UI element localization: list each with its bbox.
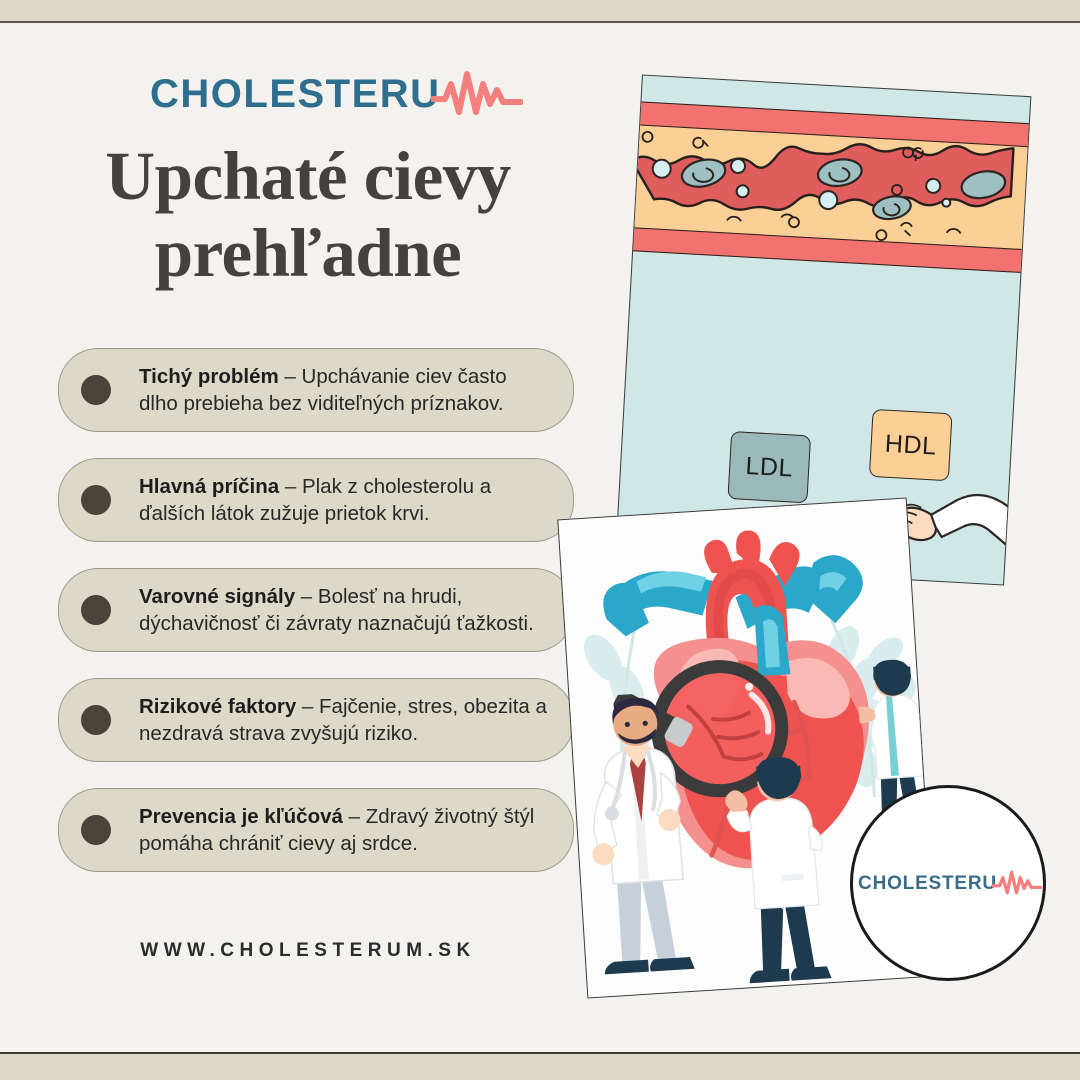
bullet-dot-icon [81, 375, 111, 405]
hdl-tile: HDL [869, 409, 953, 481]
website-url: WWW.CHOLESTERUM.SK [28, 940, 588, 962]
brand-logo: CHOLESTERU [150, 68, 523, 120]
bullet-dot-icon [81, 485, 111, 515]
brand-badge-wordmark: CHOLESTERU [858, 874, 997, 893]
list-item-text: Varovné signály – Bolesť na hrudi, dýcha… [139, 583, 547, 637]
list-item-dash: – [279, 365, 302, 388]
bottom-band [0, 1052, 1080, 1080]
brand-badge: CHOLESTERU [850, 785, 1046, 981]
illustration-cluster: LDL HDL [560, 40, 1080, 1040]
ldl-label: LDL [745, 451, 794, 483]
doctor-with-magnifier [572, 689, 741, 998]
list-item: Varovné signály – Bolesť na hrudi, dýcha… [58, 568, 574, 652]
bullet-dot-icon [81, 815, 111, 845]
hdl-label: HDL [884, 429, 937, 461]
list-item-lead: Tichý problém [139, 365, 279, 388]
list-item-dash: – [343, 805, 366, 828]
heartbeat-ecg-icon [431, 68, 523, 120]
list-item-lead: Prevencia je kľúčová [139, 805, 343, 828]
list-item-lead: Rizikové faktory [139, 695, 296, 718]
bullet-dot-icon [81, 595, 111, 625]
list-item: Prevencia je kľúčová – Zdravý životný št… [58, 788, 574, 872]
bullet-dot-icon [81, 705, 111, 735]
list-item-text: Prevencia je kľúčová – Zdravý životný št… [139, 803, 547, 857]
page-title: Upchaté cievy prehľadne [28, 138, 588, 293]
list-item-lead: Hlavná príčina [139, 475, 279, 498]
top-band [0, 0, 1080, 23]
list-item-lead: Varovné signály [139, 585, 295, 608]
poster-canvas: CHOLESTERU Upchaté cievy prehľadne Tichý… [0, 0, 1080, 1080]
list-item-text: Tichý problém – Upchávanie ciev často dl… [139, 363, 547, 417]
page-title-line-1: Upchaté cievy [28, 138, 588, 215]
list-item-dash: – [279, 475, 302, 498]
list-item: Rizikové faktory – Fajčenie, stres, obez… [58, 678, 574, 762]
doctor-back-view [722, 754, 846, 990]
list-item-dash: – [296, 695, 319, 718]
list-item: Tichý problém – Upchávanie ciev často dl… [58, 348, 574, 432]
list-item-text: Rizikové faktory – Fajčenie, stres, obez… [139, 693, 547, 747]
list-item: Hlavná príčina – Plak z cholesterolu a ď… [58, 458, 574, 542]
brand-badge-logo: CHOLESTERU [858, 868, 1042, 898]
ldl-tile: LDL [727, 431, 811, 503]
bullet-list: Tichý problém – Upchávanie ciev často dl… [58, 348, 578, 898]
heartbeat-ecg-icon [992, 868, 1042, 898]
page-title-line-2: prehľadne [28, 215, 588, 292]
artery-cross-section [626, 75, 1032, 297]
list-item-text: Hlavná príčina – Plak z cholesterolu a ď… [139, 473, 547, 527]
list-item-dash: – [295, 585, 318, 608]
brand-wordmark: CHOLESTERU [150, 74, 441, 114]
